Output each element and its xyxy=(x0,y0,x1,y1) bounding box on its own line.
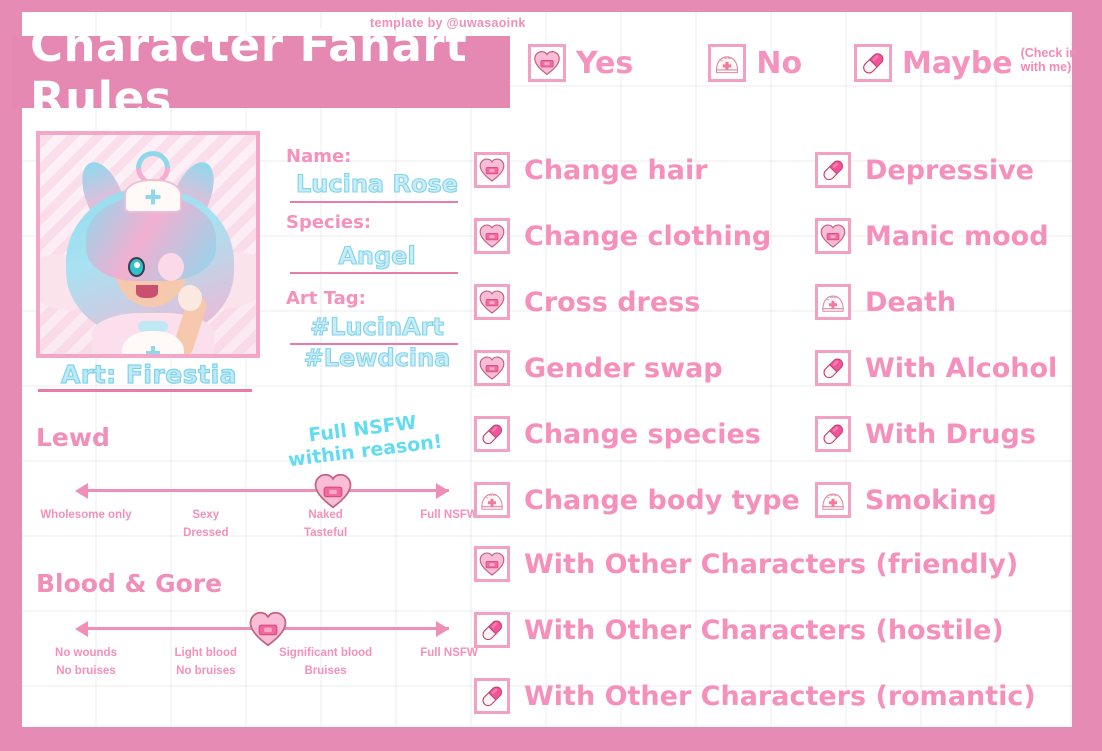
species-value[interactable]: Angel xyxy=(292,244,462,268)
heart-icon-box[interactable] xyxy=(474,350,510,386)
rule-label: Change species xyxy=(524,419,761,450)
slider-tick: Naked Tasteful xyxy=(266,507,386,543)
slider-tick: Significant blood Bruises xyxy=(266,645,386,681)
art-tag-value-2[interactable]: #Lewdcina xyxy=(292,346,462,370)
rule-row[interactable]: With Other Characters (friendly) xyxy=(474,531,1036,597)
legend-label: Maybe xyxy=(902,46,1013,81)
species-underline xyxy=(290,272,458,274)
rule-label: Cross dress xyxy=(524,287,700,318)
slider-1: LewdWholesome onlySexy DressedNaked Tast… xyxy=(36,423,436,543)
pill-icon-box[interactable] xyxy=(815,350,851,386)
heart-icon-box[interactable] xyxy=(474,218,510,254)
page-title: Character Fanart Rules xyxy=(30,19,510,125)
pill-icon-box[interactable] xyxy=(474,416,510,452)
nurse-cap-icon-box[interactable] xyxy=(815,284,851,320)
arrow-right-icon xyxy=(436,483,449,499)
character-portrait xyxy=(36,131,260,358)
legend-item-maybe: Maybe(Check in with me) xyxy=(854,44,1102,82)
title-banner: Character Fanart Rules xyxy=(12,36,510,108)
character-hand xyxy=(178,285,202,311)
arrow-left-icon xyxy=(75,621,88,637)
rule-label: Gender swap xyxy=(524,353,723,384)
rule-label: Change body type xyxy=(524,485,800,516)
heart-icon-box[interactable] xyxy=(815,218,851,254)
rule-row[interactable]: Change body type xyxy=(474,467,800,533)
arrow-left-icon xyxy=(75,483,88,499)
legend-item-no: No xyxy=(708,44,802,82)
pill-icon-box[interactable] xyxy=(854,44,892,82)
heart-icon-box[interactable] xyxy=(474,152,510,188)
rule-row[interactable]: Gender swap xyxy=(474,335,800,401)
heart-icon-box[interactable] xyxy=(474,546,510,582)
rule-row[interactable]: Death xyxy=(815,269,1057,335)
rule-label: With Alcohol xyxy=(865,353,1057,384)
nurse-cap-icon-box[interactable] xyxy=(815,482,851,518)
rule-label: With Other Characters (friendly) xyxy=(524,549,1018,580)
rule-label: Change clothing xyxy=(524,221,771,252)
rules-column-left: Change hairChange clothingCross dressGen… xyxy=(474,137,800,533)
pill-icon-box[interactable] xyxy=(815,416,851,452)
legend-item-yes: Yes xyxy=(528,44,633,82)
heart-icon-box[interactable] xyxy=(474,284,510,320)
legend-note: (Check in with me) xyxy=(1021,46,1102,82)
pill-icon-box[interactable] xyxy=(474,612,510,648)
legend: YesNoMaybe(Check in with me) xyxy=(528,44,1102,82)
legend-label: Yes xyxy=(576,46,633,81)
rule-label: Death xyxy=(865,287,956,318)
rule-row[interactable]: With Other Characters (romantic) xyxy=(474,663,1036,729)
slider-title: Blood & Gore xyxy=(36,569,436,598)
pill-icon-box[interactable] xyxy=(474,678,510,714)
rule-row[interactable]: Change hair xyxy=(474,137,800,203)
nurse-cap-icon xyxy=(124,179,182,213)
pill-icon-box[interactable] xyxy=(815,152,851,188)
slider-tick: Light blood No bruises xyxy=(146,645,266,681)
rule-row[interactable]: Change clothing xyxy=(474,203,800,269)
art-credit: Art: Firestia xyxy=(38,360,260,389)
art-tag-value-1[interactable]: #LucinArt xyxy=(292,315,462,339)
rule-label: Manic mood xyxy=(865,221,1049,252)
fanart-rules-page: template by @uwasaoink Character Fanart … xyxy=(0,0,1102,751)
nurse-cap-icon-box[interactable] xyxy=(708,44,746,82)
rule-label: Change hair xyxy=(524,155,708,186)
arrow-right-icon xyxy=(436,621,449,637)
rule-row[interactable]: Depressive xyxy=(815,137,1057,203)
legend-label: No xyxy=(756,46,802,81)
slider-tick: Wholesome only xyxy=(26,507,146,525)
eye-patch-icon xyxy=(158,253,184,281)
slider-axis xyxy=(86,489,449,492)
rule-label: With Other Characters (romantic) xyxy=(524,681,1036,712)
species-label: Species: xyxy=(286,212,371,233)
rule-label: Smoking xyxy=(865,485,997,516)
rules-column-full: With Other Characters (friendly)With Oth… xyxy=(474,531,1036,729)
character-mouth xyxy=(136,285,158,298)
rule-row[interactable]: Smoking xyxy=(815,467,1057,533)
rule-label: With Other Characters (hostile) xyxy=(524,615,1004,646)
art-tag-label: Art Tag: xyxy=(286,288,366,309)
name-underline xyxy=(290,201,458,203)
rule-row[interactable]: With Drugs xyxy=(815,401,1057,467)
rule-row[interactable]: Change species xyxy=(474,401,800,467)
rule-row[interactable]: Manic mood xyxy=(815,203,1057,269)
nurse-cap-icon-box[interactable] xyxy=(474,482,510,518)
rules-column-right: DepressiveManic moodDeathWith AlcoholWit… xyxy=(815,137,1057,533)
rule-row[interactable]: With Alcohol xyxy=(815,335,1057,401)
rule-label: With Drugs xyxy=(865,419,1036,450)
name-value[interactable]: Lucina Rose xyxy=(292,172,462,196)
rule-row[interactable]: With Other Characters (hostile) xyxy=(474,597,1036,663)
art-credit-underline xyxy=(38,389,252,392)
heart-icon-box[interactable] xyxy=(528,44,566,82)
slider-tick: Sexy Dressed xyxy=(146,507,266,543)
name-label: Name: xyxy=(286,146,351,167)
portrait-background xyxy=(40,135,256,354)
character-eye xyxy=(128,257,145,277)
slider-tick: No wounds No bruises xyxy=(26,645,146,681)
slider-2: Blood & GoreNo wounds No bruisesLight bl… xyxy=(36,569,436,689)
rule-row[interactable]: Cross dress xyxy=(474,269,800,335)
rule-label: Depressive xyxy=(865,155,1034,186)
